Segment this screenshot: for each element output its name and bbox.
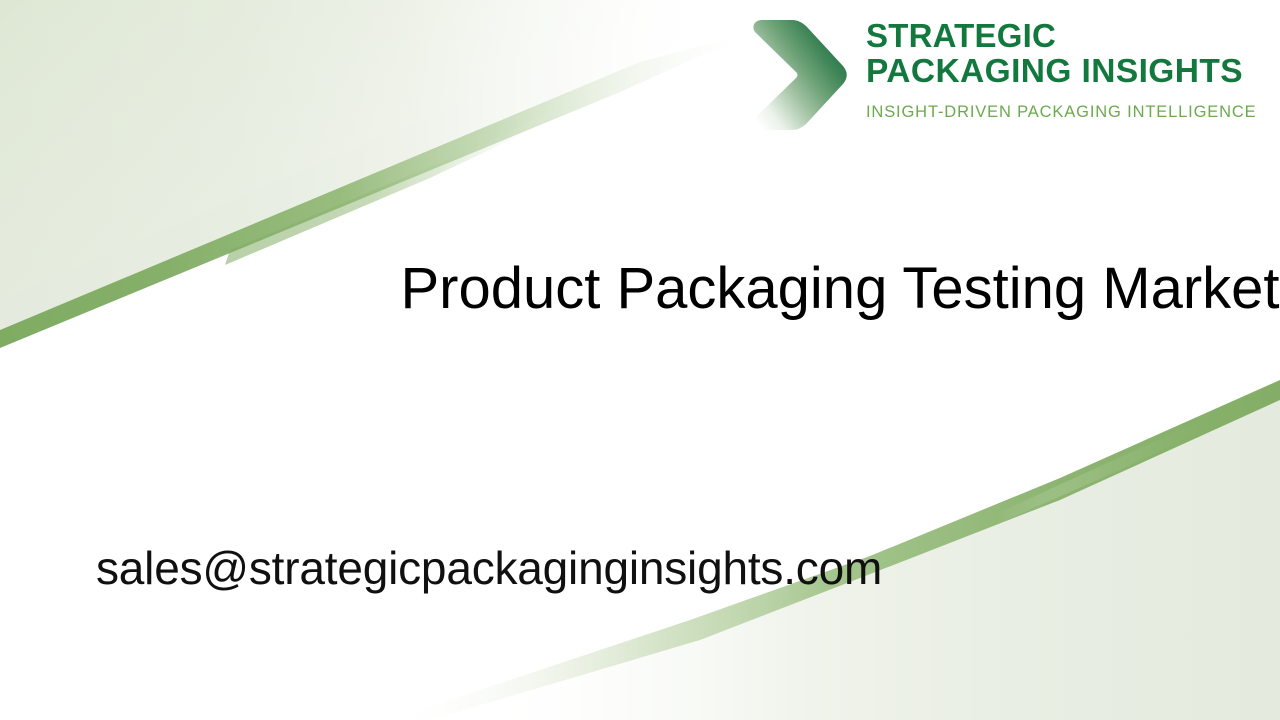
logo-tagline: INSIGHT-DRIVEN PACKAGING INTELLIGENCE [866,103,1257,122]
company-logo: STRATEGIC PACKAGING INSIGHTS INSIGHT-DRI… [746,12,1256,137]
decor-top-left-stripe-bend [225,108,560,265]
logo-wordmark-line2: PACKAGING INSIGHTS [866,54,1257,90]
decor-top-left-haze [0,0,700,300]
page-title: Product Packaging Testing Market [340,262,1280,316]
decor-bottom-right-stripe-bend [995,408,1230,525]
title-slide: STRATEGIC PACKAGING INSIGHTS INSIGHT-DRI… [0,0,1280,720]
logo-wordmark: STRATEGIC PACKAGING INSIGHTS INSIGHT-DRI… [866,12,1257,122]
logo-wordmark-line1: STRATEGIC [866,18,1257,54]
chevron-arrow-mark-icon [746,14,850,132]
contact-email: sales@strategicpackaginginsights.com [96,540,882,596]
